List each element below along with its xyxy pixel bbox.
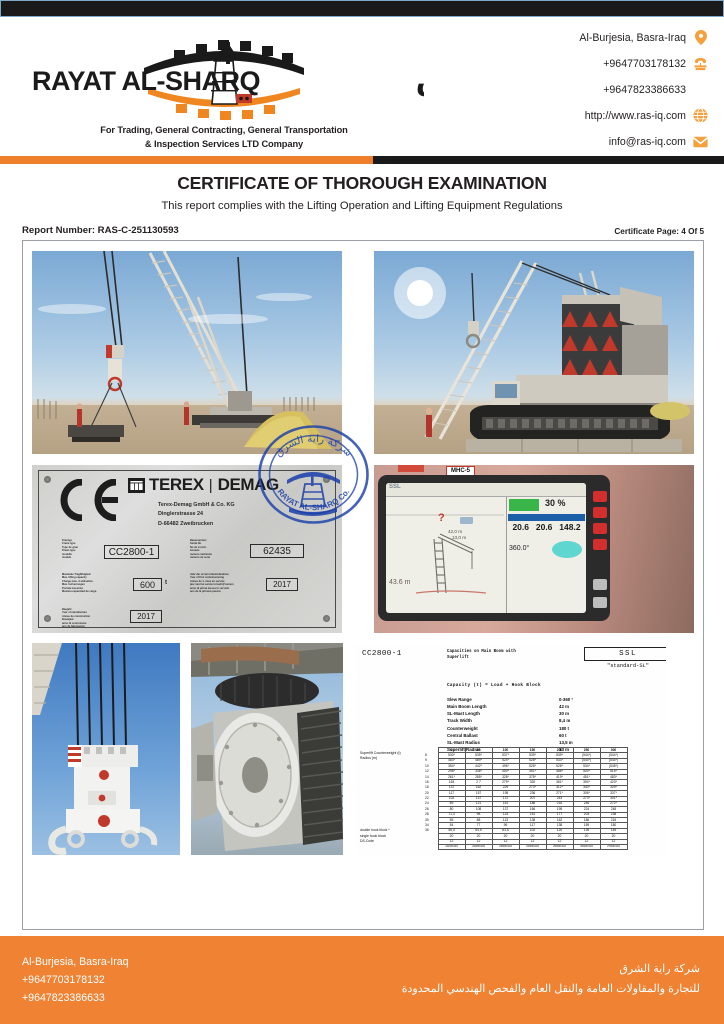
spec-value-mast-length: 30 m	[559, 710, 569, 717]
top-black-bar	[0, 0, 724, 17]
monitor-button-3[interactable]	[593, 523, 607, 534]
photo-hook-block	[32, 643, 180, 855]
monitor-housing: SSL	[378, 475, 610, 621]
monitor-slew-value: 360.0°	[509, 545, 529, 552]
photo-crane-lmi-monitor: MHC-5 SSL	[374, 465, 694, 633]
monitor-value-3: 148.2	[559, 522, 580, 532]
monitor-button-6[interactable]	[593, 597, 607, 608]
spec-label-track-width: Track Width	[447, 717, 559, 724]
footer-arabic-line-1: شركة راية الشرق	[361, 960, 700, 980]
caption-line-1: Capacities on Main Boom with	[447, 650, 516, 656]
load-chart-ds-code-row: 2110001042200001042300001042400001042500…	[424, 845, 627, 850]
contact-address-text: Al-Burjesia, Basra-Iraq	[579, 32, 686, 44]
commissioning-labels: Jahr der ersten Inbetriebnahme Year of f…	[190, 573, 234, 594]
monitor-button-2[interactable]	[593, 507, 607, 518]
contact-website-text: http://www.ras-iq.com	[585, 110, 686, 122]
load-chart-axis-labels: Superlift Counterweight (t) Radius (m)	[360, 751, 401, 762]
spec-value-track-width: 8,4 m	[559, 717, 570, 724]
load-chart-footer-labels: double hook block * single hook block DS…	[360, 828, 390, 845]
load-chart-ds-code-cell: 211000104	[438, 845, 465, 850]
page-header: RAYAT AL-SHARQ راية الشرق For Trading, G…	[0, 17, 724, 156]
monitor-screen: SSL	[386, 483, 586, 613]
brand-column: RAYAT AL-SHARQ راية الشرق For Trading, G…	[14, 21, 434, 156]
company-logo: RAYAT AL-SHARQ راية الشرق	[14, 28, 434, 124]
photo-crane-superstructure	[374, 251, 694, 454]
contact-email-text: info@ras-iq.com	[609, 136, 686, 148]
contact-row-website: http://www.ras-iq.com	[434, 107, 708, 124]
spec-label-mast-radius: SL-Mast Radius	[447, 739, 559, 746]
monitor-value-2: 20.6	[536, 522, 553, 532]
envelope-icon	[693, 134, 708, 149]
report-info-line: Report Number: RAS-C-251130593 Certifica…	[0, 212, 724, 236]
serial-number-value: 62435	[250, 544, 304, 558]
globe-icon	[693, 108, 708, 123]
svg-text:13,0 m: 13,0 m	[452, 535, 466, 540]
load-chart-ds-code-cell: 260000104	[573, 845, 600, 850]
build-year-labels: Baujahr Year of manufacture Annee de con…	[62, 608, 90, 629]
axis-label-radius: Radius (m)	[360, 756, 401, 761]
terex-logo-icon	[128, 478, 145, 493]
monitor-status-strip: SSL	[386, 483, 586, 497]
load-chart-config-name: "standard-SL"	[584, 663, 666, 669]
svg-text:42,0 m: 42,0 m	[448, 529, 462, 534]
footer-address: Al-Burjesia, Basra-Iraq	[22, 953, 361, 971]
spec-value-counterweight: 180 t	[559, 725, 569, 732]
max-capacity-unit: t	[165, 580, 167, 586]
manufacturer-name: Terex-Demag GmbH & Co. KG	[158, 501, 235, 510]
telephone-icon	[693, 56, 708, 71]
load-chart-table-body: 0501001502002503008530*535*537*539*539*(…	[424, 748, 627, 850]
monitor-height-value: 43.6 m	[389, 579, 410, 586]
manufacturer-street: Dinglerstrasse 24	[158, 510, 235, 519]
spec-value-central-ballast: 60 t	[559, 732, 567, 739]
spec-value-boom-length: 42 m	[559, 703, 569, 710]
commissioning-value: 2017	[266, 578, 298, 591]
certificate-page-number: Certificate Page: 4 Of 5	[614, 227, 704, 236]
tagline-line-2: & Inspection Services LTD Company	[100, 138, 348, 151]
monitor-readout-pane: 30 % 20.6 20.6 148.2 360.0°	[506, 497, 586, 613]
brand-terex: TEREX	[149, 475, 204, 495]
max-capacity-value: 600	[133, 578, 162, 591]
footer-phone-1: +9647703178132	[22, 971, 361, 989]
contact-row-address: Al-Burjesia, Basra-Iraq	[434, 29, 708, 46]
spec-label-counterweight: Counterweight	[447, 725, 559, 732]
spec-row-mast-radius: SL-Mast Radius 13,5 m	[447, 739, 637, 746]
brand-separator: |	[209, 477, 213, 494]
contact-row-email: info@ras-iq.com	[434, 133, 708, 150]
load-chart-ds-code-cell: 220000104	[465, 845, 492, 850]
header-divider-rule	[0, 156, 724, 164]
monitor-slew-dial	[552, 541, 582, 558]
serial-number-labels: Bauenummer Serial No No de constr. bouwn…	[190, 539, 212, 560]
monitor-red-tag	[398, 465, 424, 472]
contact-phone-2-text: +9647823386633	[603, 84, 686, 96]
monitor-load-bar	[509, 499, 539, 511]
monitor-numeric-readouts: 20.6 20.6 148.2	[509, 522, 584, 532]
load-chart-ds-code-cell: 270000104	[600, 845, 627, 850]
load-chart-caption: Capacities on Main Boom with Superlift	[447, 650, 516, 661]
evidence-photo-panel: TEREX | DEMAG Terex-Demag GmbH & Co. KG …	[22, 240, 704, 930]
contact-column: Al-Burjesia, Basra-Iraq +9647703178132 +…	[434, 21, 712, 156]
svg-text:?: ?	[438, 512, 445, 524]
crane-type-labels: Krantyp Crane type Type de grue Kraan ty…	[62, 539, 78, 560]
certificate-page: RAYAT AL-SHARQ راية الشرق For Trading, G…	[0, 0, 724, 1024]
load-chart-ds-code-cell: 230000104	[492, 845, 519, 850]
report-number: Report Number: RAS-C-251130593	[22, 225, 179, 236]
spec-label-central-ballast: Central Ballast	[447, 732, 559, 739]
spec-row-mast-length: SL-Mast Length 30 m	[447, 710, 637, 717]
footer-label-ds-code: DS-Code	[360, 839, 390, 845]
monitor-blue-header-bar	[508, 514, 585, 521]
svg-text:شركة راية الشرق: شركة راية الشرق	[273, 433, 355, 459]
load-chart-ds-code-cell: 240000104	[519, 845, 546, 850]
footer-arabic-block: شركة راية الشرق للتجارة والمقاولات العام…	[361, 960, 700, 999]
rule-orange-segment	[0, 156, 373, 164]
nameplate-manufacturer-block: Terex-Demag GmbH & Co. KG Dinglerstrasse…	[158, 501, 235, 529]
caption-line-2: Superlift	[447, 656, 516, 662]
stamp-icon: شركة راية الشرق RAYAT AL-SHARQ Co.	[257, 424, 370, 525]
photo-winch-drum	[191, 643, 343, 855]
location-pin-icon	[693, 30, 708, 45]
load-chart-table: 0501001502002503008530*535*537*539*539*(…	[424, 747, 628, 850]
spec-row-slew: Slew Range 0-360 °	[447, 696, 637, 703]
spec-row-counterweight: Counterweight 180 t	[447, 725, 637, 732]
title-block: CERTIFICATE OF THOROUGH EXAMINATION This…	[0, 164, 724, 212]
svg-text:RAYAT AL-SHARQ Co.: RAYAT AL-SHARQ Co.	[276, 487, 352, 512]
stamp-text-english: RAYAT AL-SHARQ Co.	[276, 487, 352, 512]
load-chart-radius-cell	[424, 845, 438, 850]
logo-text-en: RAYAT AL-SHARQ	[32, 66, 260, 96]
photo-row-3: CC2800-1 Capacities on Main Boom with Su…	[32, 643, 694, 855]
spec-label-boom-length: Main Boom Length	[447, 703, 559, 710]
load-chart-ds-code-cell: 250000104	[546, 845, 573, 850]
monitor-button-1[interactable]	[593, 491, 607, 502]
monitor-diagram-pane: 42,0 m 13,0 m ? 43.6 m	[386, 497, 506, 613]
footer-arabic-line-2: للتجارة والمقاولات العامة والنقل العام و…	[361, 980, 700, 1000]
build-year-value: 2017	[130, 610, 162, 623]
monitor-value-1: 20.6	[512, 522, 529, 532]
max-capacity-labels: Maximale Tragfähigkeit Max. lifting capa…	[62, 573, 96, 594]
page-footer: Al-Burjesia, Basra-Iraq +9647703178132 +…	[0, 936, 724, 1024]
monitor-mode-label: SSL	[389, 484, 401, 490]
spec-value-slew: 0-360 °	[559, 696, 573, 703]
ce-mark-icon	[52, 479, 124, 521]
spec-label-slew: Slew Range	[447, 696, 559, 703]
load-chart-model: CC2800-1	[362, 650, 402, 658]
load-chart-capacity-note: Capacity (t) = Load + Hook Block	[447, 683, 541, 688]
footer-label-double-hook: double hook block *	[360, 828, 390, 834]
contact-row-phone-2: +9647823386633	[434, 81, 708, 98]
spec-label-mast-length: SL-Mast Length	[447, 710, 559, 717]
monitor-button-4[interactable]	[593, 539, 607, 550]
load-chart-document: CC2800-1 Capacities on Main Boom with Su…	[354, 643, 666, 855]
logo-text-ar: راية الشرق	[416, 63, 424, 98]
contact-phone-1-text: +9647703178132	[603, 58, 686, 70]
spec-row-track-width: Track Width 8,4 m	[447, 717, 637, 724]
manufacturer-city: D-66482 Zweibrucken	[158, 520, 235, 529]
logo-mark-icon: RAYAT AL-SHARQ راية الشرق	[24, 28, 424, 124]
footer-contact-block: Al-Burjesia, Basra-Iraq +9647703178132 +…	[22, 953, 361, 1008]
spec-value-mast-radius: 13,5 m	[559, 739, 573, 746]
company-stamp: شركة راية الشرق RAYAT AL-SHARQ Co.	[257, 424, 370, 525]
page-title: CERTIFICATE OF THOROUGH EXAMINATION	[0, 173, 724, 194]
spec-row-boom-length: Main Boom Length 42 m	[447, 703, 637, 710]
page-subtitle: This report complies with the Lifting Op…	[0, 200, 724, 212]
crane-type-value: CC2800-1	[104, 545, 159, 559]
spec-row-central-ballast: Central Ballast 60 t	[447, 732, 637, 739]
monitor-button-5[interactable]	[593, 579, 607, 590]
company-tagline: For Trading, General Contracting, Genera…	[100, 124, 348, 151]
load-chart-spec-list: Slew Range 0-360 ° Main Boom Length 42 m…	[447, 696, 637, 753]
contact-row-phone-1: +9647703178132	[434, 55, 708, 72]
footer-phone-2: +9647823386633	[22, 989, 361, 1007]
monitor-percent-value: 30 %	[545, 498, 566, 508]
stamp-text-arabic: شركة راية الشرق	[273, 433, 355, 459]
tagline-line-1: For Trading, General Contracting, Genera…	[100, 124, 348, 137]
rule-black-segment	[373, 156, 724, 164]
load-chart-config-code: SSL	[584, 647, 666, 661]
